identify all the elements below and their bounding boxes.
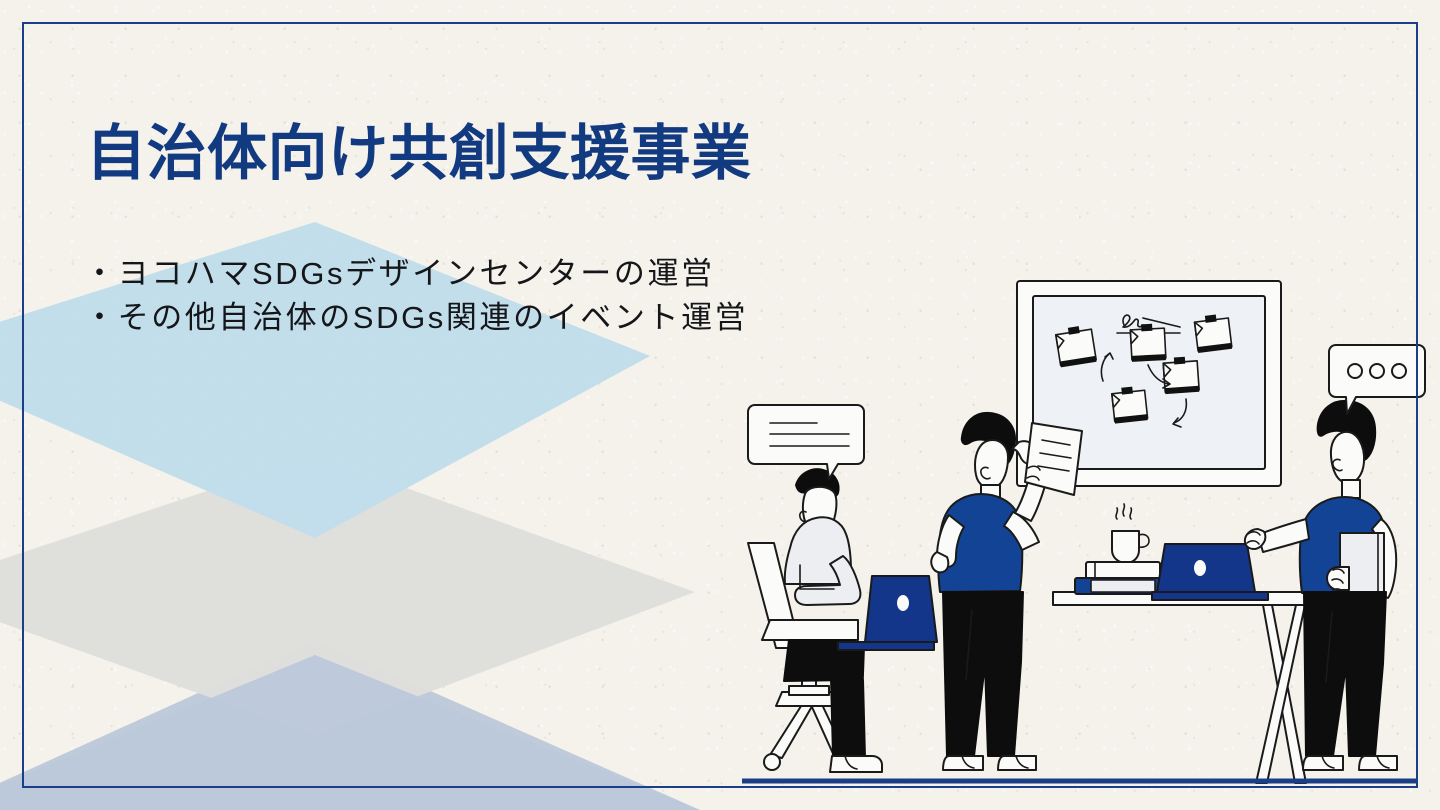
list-item: ・その他自治体のSDGs関連のイベント運営 — [84, 296, 748, 340]
book-stack — [1075, 562, 1160, 594]
seated-man-group — [748, 469, 937, 772]
person3-pants — [1304, 592, 1386, 756]
list-item: ・ヨコハマSDGsデザインセンターの運営 — [84, 252, 748, 296]
desk — [1053, 592, 1308, 783]
page-title: 自治体向け共創支援事業 — [86, 124, 752, 184]
person3-head — [1331, 432, 1364, 483]
sticky-note — [1130, 323, 1166, 362]
speech-bubble-lines — [748, 405, 864, 479]
woman-document — [1025, 423, 1082, 495]
desk-items — [1075, 504, 1268, 600]
laptop-logo — [897, 595, 909, 611]
bullet-list: ・ヨコハマSDGsデザインセンターの運営 ・その他自治体のSDGs関連のイベント… — [84, 252, 748, 340]
steam-icon — [1116, 504, 1131, 519]
woman-head — [975, 440, 1008, 488]
person3-neck — [1342, 480, 1360, 498]
coffee-mug — [1112, 531, 1149, 563]
woman-pants — [943, 592, 1023, 756]
laptop-logo — [1194, 560, 1206, 576]
desk-laptop — [1152, 544, 1268, 600]
slide-canvas: .ln { fill:none; stroke:#1a1a1a; stroke-… — [0, 0, 1440, 810]
